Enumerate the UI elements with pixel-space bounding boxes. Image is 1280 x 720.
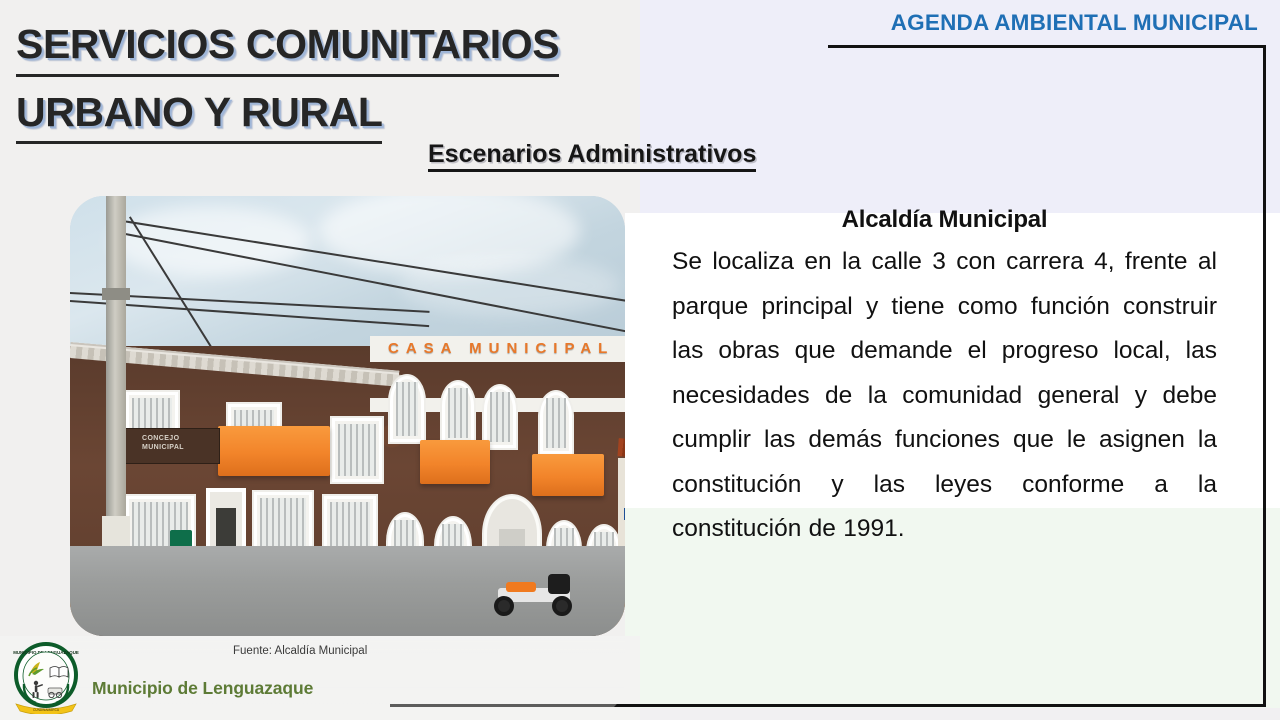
page-title: SERVICIOS COMUNITARIOS URBANO Y RURAL — [16, 16, 636, 151]
svg-text:CUNDINAMARCA: CUNDINAMARCA — [33, 708, 60, 712]
section-subtitle: Escenarios Administrativos — [428, 140, 756, 172]
balcony — [532, 454, 604, 496]
facade-sign-text: CASA MUNICIPAL — [388, 340, 614, 357]
arched-window — [540, 392, 572, 454]
photo-caption: Fuente: Alcaldía Municipal — [233, 645, 367, 657]
motorcycle-topcase — [548, 574, 570, 594]
content-body: Se localiza en la calle 3 con carrera 4,… — [672, 240, 1217, 552]
neighbor-sign — [624, 508, 625, 520]
concejo-plaque-text: CONCEJOMUNICIPAL — [142, 435, 184, 453]
agenda-header-title: AGENDA AMBIENTAL MUNICIPAL — [891, 10, 1258, 36]
seal-lenguazaque-icon: MUNICIPIO DE LENGUAZAQUE — [10, 640, 82, 714]
page-title-line-2: URBANO Y RURAL — [16, 84, 382, 145]
arched-window — [442, 382, 474, 444]
content-block: Alcaldía Municipal Se localiza en la cal… — [672, 206, 1217, 552]
balcony — [420, 440, 490, 484]
arched-window — [390, 376, 424, 442]
motorcycle-body — [506, 582, 536, 592]
frame-right-rule — [1263, 45, 1266, 707]
arched-window — [484, 386, 516, 448]
pole-band — [102, 288, 130, 300]
page-title-line-1: SERVICIOS COMUNITARIOS — [16, 16, 559, 77]
pole-band — [102, 516, 130, 550]
photo-scene: CASA MUNICIPAL CONCEJOMUNICIPAL — [70, 196, 625, 636]
neighbor-wall — [618, 458, 625, 554]
building-photo: CASA MUNICIPAL CONCEJOMUNICIPAL — [70, 196, 625, 636]
footer-municipality: Municipio de Lenguazaque — [92, 678, 313, 699]
section-subtitle-text: Escenarios Administrativos — [428, 140, 756, 172]
content-heading: Alcaldía Municipal — [672, 206, 1217, 234]
motorcycle-wheel — [494, 596, 514, 616]
cloud-icon — [110, 206, 310, 276]
motorcycle-wheel — [552, 596, 572, 616]
slide-canvas: AGENDA AMBIENTAL MUNICIPAL SERVICIOS COM… — [0, 0, 1280, 720]
balcony — [218, 426, 330, 476]
window — [332, 418, 382, 482]
frame-top-rule — [828, 45, 1266, 48]
